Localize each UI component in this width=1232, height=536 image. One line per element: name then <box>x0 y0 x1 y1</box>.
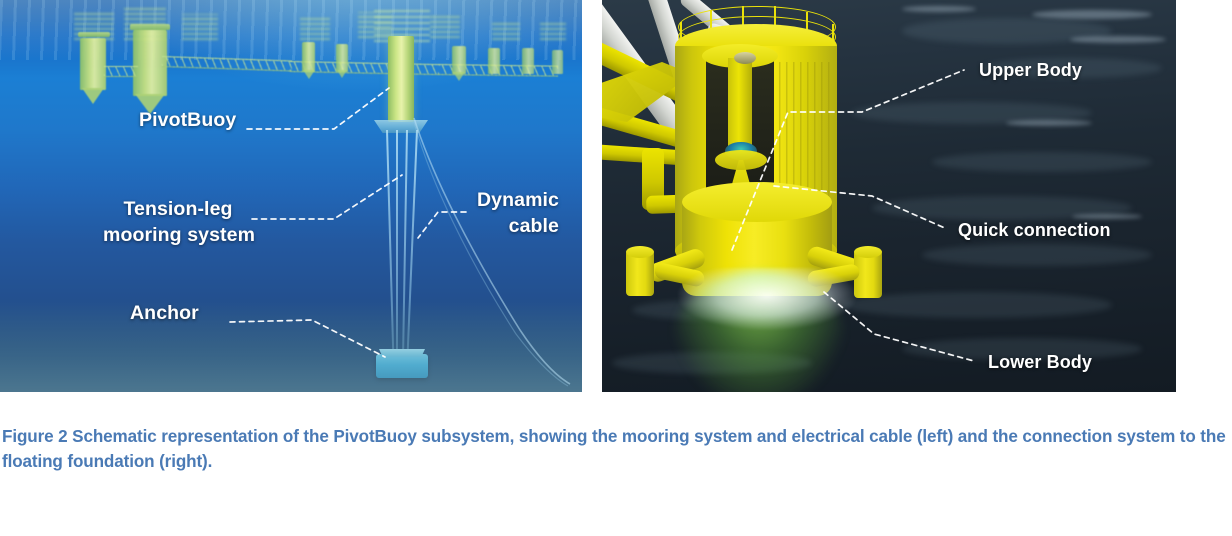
right-figure-buoy-photo: Upper Body Quick connection Lower Body <box>602 0 1176 392</box>
pivotbuoy-heave-plate <box>374 120 428 133</box>
pivotbuoy-spar <box>388 36 414 122</box>
connection-fitting-top <box>734 52 756 64</box>
label-pivotbuoy: PivotBuoy <box>139 107 236 133</box>
label-tension-leg-mooring-system: Tension-leg mooring system <box>103 196 253 248</box>
buoy-lower-top-rim <box>682 182 832 222</box>
label-upper-body: Upper Body <box>979 58 1082 82</box>
buoy-pontoon-right-cap <box>854 246 882 258</box>
label-lower-body: Lower Body <box>988 350 1092 374</box>
label-anchor: Anchor <box>130 300 199 326</box>
buoy-pontoon-left-cap <box>626 246 654 258</box>
water-foam <box>678 268 856 330</box>
label-dynamic-cable: Dynamic cable <box>418 187 559 239</box>
label-quick-connection: Quick connection <box>958 218 1111 242</box>
figure-caption: Figure 2 Schematic representation of the… <box>2 425 1228 474</box>
figure-row: PivotBuoy Tension-leg mooring system Anc… <box>0 0 1232 392</box>
quick-connection-collar <box>715 150 767 170</box>
seabed-haze <box>0 302 582 392</box>
buoy-interior-pillar <box>728 58 752 154</box>
left-figure-underwater-schematic: PivotBuoy Tension-leg mooring system Anc… <box>0 0 582 392</box>
